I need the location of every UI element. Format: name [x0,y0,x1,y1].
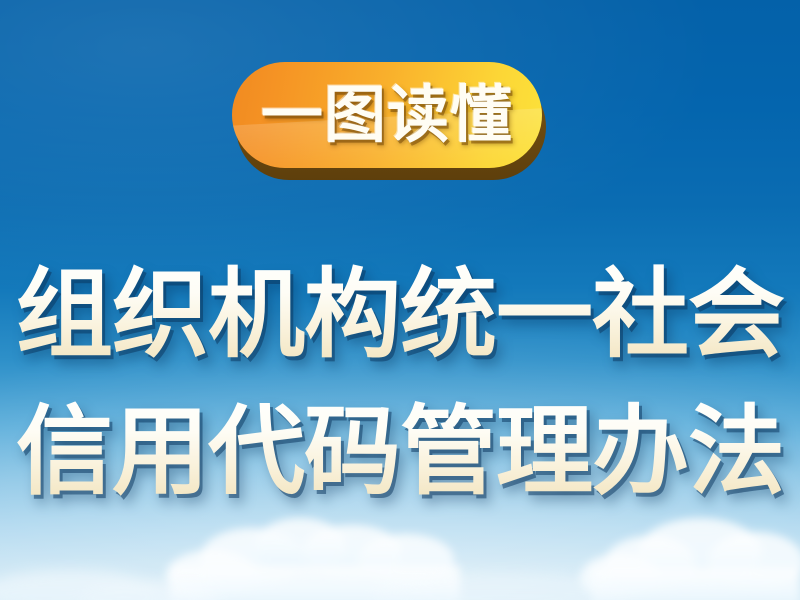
page-title: 组织机构统一社会 信用代码管理办法 [0,246,800,520]
poster-canvas: 一图读懂 组织机构统一社会 信用代码管理办法 [0,0,800,600]
badge-label: 一图读懂 [232,62,542,168]
headline-badge: 一图读懂 [232,62,546,180]
page-title-line-1: 组织机构统一社会 [0,246,800,383]
page-title-line-2: 信用代码管理办法 [0,383,800,520]
